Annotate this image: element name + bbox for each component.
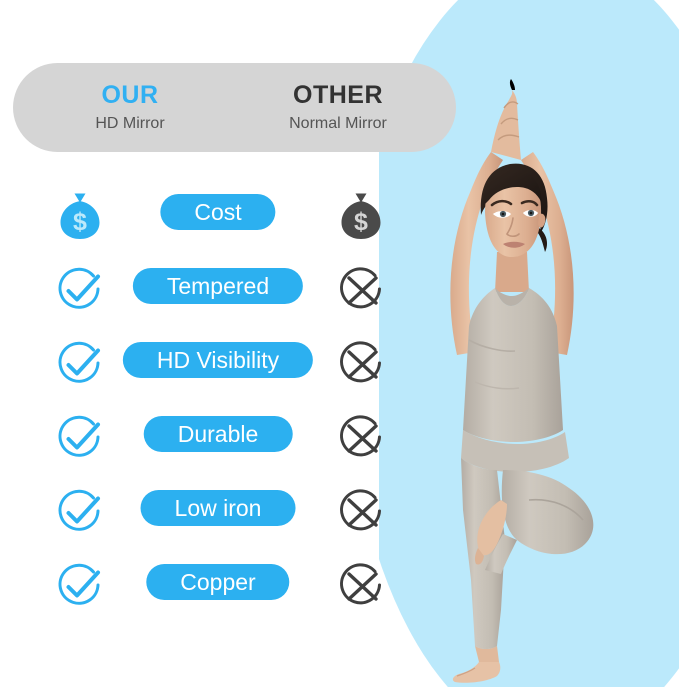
other-subtitle: Normal Mirror [248,112,428,136]
other-title: OTHER [248,80,428,110]
neck [495,252,529,292]
svg-text:$: $ [73,208,87,236]
svg-text:$: $ [354,208,368,236]
cross-circle-icon [334,485,388,539]
feature-pill[interactable]: Cost [160,194,275,230]
feature-row: Tempered [0,260,420,334]
standing-foot [453,662,500,683]
check-circle-icon [53,411,107,465]
check-circle-icon [53,337,107,391]
cross-circle-icon [334,411,388,465]
feature-pill[interactable]: Tempered [133,268,303,304]
comparison-header-bar: OUR HD Mirror OTHER Normal Mirror [13,63,456,152]
feature-row: Durable [0,408,420,482]
feature-row: $ Cost $ [0,186,420,260]
check-circle-icon [53,559,107,613]
feature-pill[interactable]: Low iron [141,490,296,526]
feature-row: Copper [0,556,420,630]
header-column-other: OTHER Normal Mirror [248,80,428,136]
our-subtitle: HD Mirror [40,112,220,136]
torso-group [463,288,563,442]
legs-group [453,458,593,683]
feature-pill[interactable]: HD Visibility [123,342,313,378]
feature-row: Low iron [0,482,420,556]
cross-circle-icon [334,559,388,613]
check-circle-icon [53,263,107,317]
feature-row: HD Visibility [0,334,420,408]
money-bag-icon: $ [334,189,388,243]
head-group [483,169,545,257]
cross-circle-icon [334,263,388,317]
cross-circle-icon [334,337,388,391]
our-title: OUR [40,80,220,110]
header-column-our: OUR HD Mirror [40,80,220,136]
check-circle-icon [53,485,107,539]
money-bag-icon: $ [53,189,107,243]
feature-rows: $ Cost $ Tempered HD Visibilit [0,186,420,630]
feature-pill[interactable]: Durable [144,416,293,452]
feature-pill[interactable]: Copper [146,564,289,600]
tank-top [463,288,563,442]
